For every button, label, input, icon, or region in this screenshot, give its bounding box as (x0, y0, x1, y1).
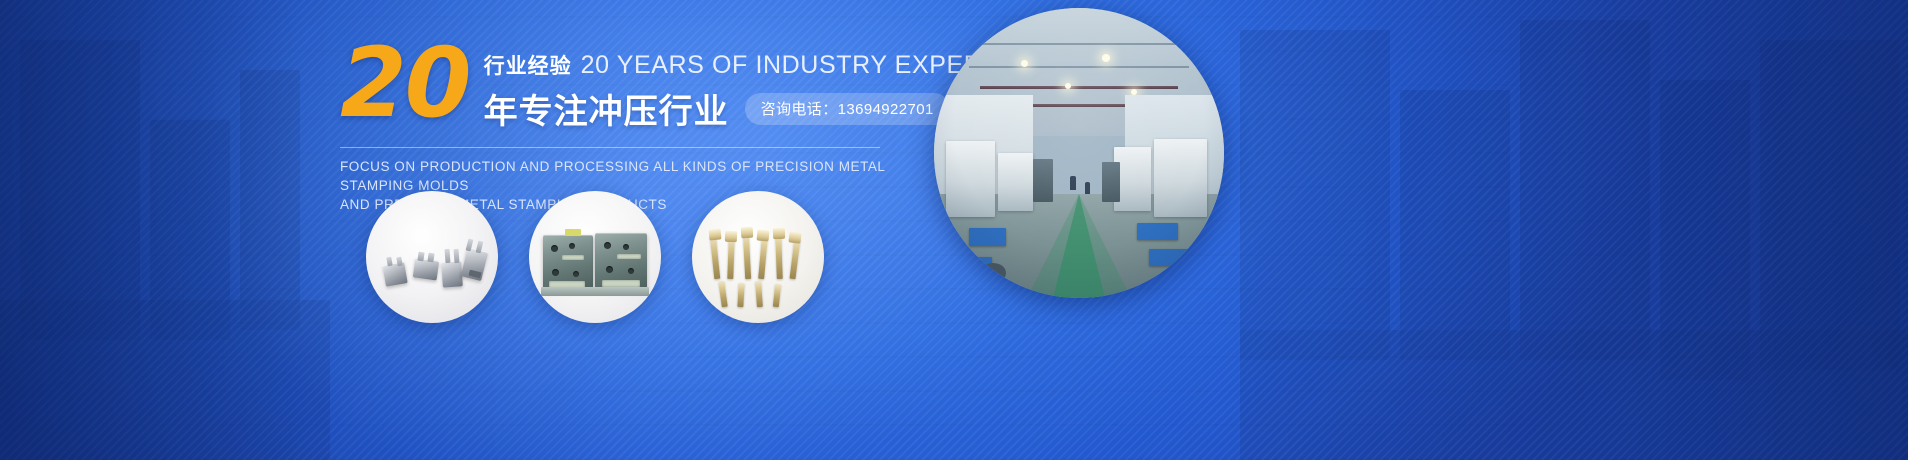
headline-divider (340, 147, 880, 148)
product-circle-stamping-molds[interactable] (529, 191, 661, 323)
factory-workshop-photo[interactable] (934, 8, 1224, 298)
product-showcase (366, 191, 824, 323)
stamping-industry-cn-label: 年专注冲压行业 (484, 84, 729, 133)
consultation-phone-badge[interactable]: 咨询电话：13694922701 (745, 93, 950, 125)
factory-photo-shading (934, 8, 1224, 298)
years-number: 20 (340, 42, 470, 125)
promotional-banner: 20 行业经验 20 YEARS OF INDUSTRY EXPERIENCE … (0, 0, 1908, 460)
subtitle-line-1: FOCUS ON PRODUCTION AND PROCESSING ALL K… (340, 157, 900, 195)
industry-experience-cn-label: 行业经验 (484, 50, 572, 80)
banner-content: 20 行业经验 20 YEARS OF INDUSTRY EXPERIENCE … (340, 40, 900, 214)
product-circle-connector-shells[interactable] (366, 191, 498, 323)
product-circle-contact-pins[interactable] (692, 191, 824, 323)
headline-row: 20 行业经验 20 YEARS OF INDUSTRY EXPERIENCE … (340, 40, 900, 133)
